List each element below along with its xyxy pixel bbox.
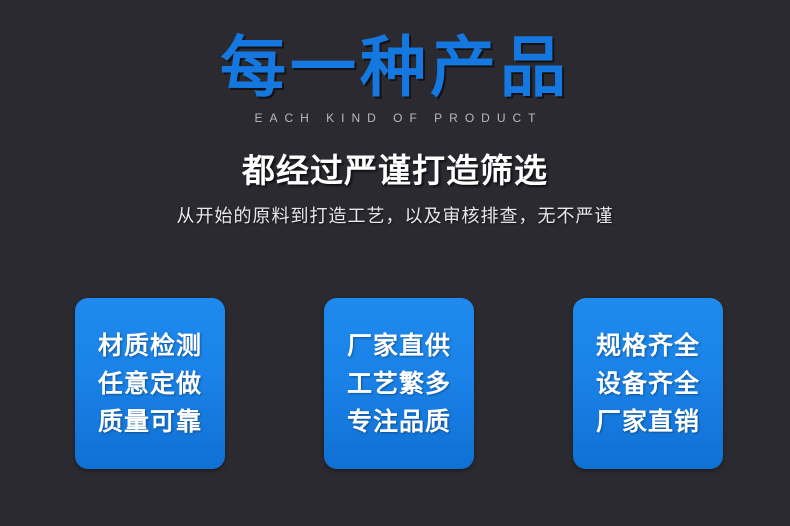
feature-card-line: 设备齐全 <box>596 365 700 403</box>
feature-card: 材质检测 任意定做 质量可靠 <box>75 298 225 469</box>
feature-card-list: 材质检测 任意定做 质量可靠 厂家直供 工艺繁多 专注品质 规格齐全 设备齐全 … <box>75 298 723 469</box>
feature-card-line: 工艺繁多 <box>347 365 451 403</box>
feature-card-line: 规格齐全 <box>596 327 700 365</box>
feature-card: 厂家直供 工艺繁多 专注品质 <box>324 298 474 469</box>
page-title: 每一种产品 <box>0 0 790 104</box>
feature-card: 规格齐全 设备齐全 厂家直销 <box>573 298 723 469</box>
feature-card-line: 任意定做 <box>98 365 202 403</box>
feature-card-line: 专注品质 <box>347 403 451 441</box>
feature-card-line: 材质检测 <box>98 327 202 365</box>
banner-header: 每一种产品 EACH KIND OF PRODUCT 都经过严谨打造筛选 从开始… <box>0 0 790 228</box>
feature-card-line: 厂家直供 <box>347 327 451 365</box>
page-subtitle: 都经过严谨打造筛选 <box>0 126 790 192</box>
feature-card-line: 厂家直销 <box>596 403 700 441</box>
feature-card-line: 质量可靠 <box>98 403 202 441</box>
promo-banner: 每一种产品 EACH KIND OF PRODUCT 都经过严谨打造筛选 从开始… <box>0 0 790 526</box>
page-title-english: EACH KIND OF PRODUCT <box>0 104 790 126</box>
page-description: 从开始的原料到打造工艺，以及审核排查，无不严谨 <box>0 192 790 228</box>
